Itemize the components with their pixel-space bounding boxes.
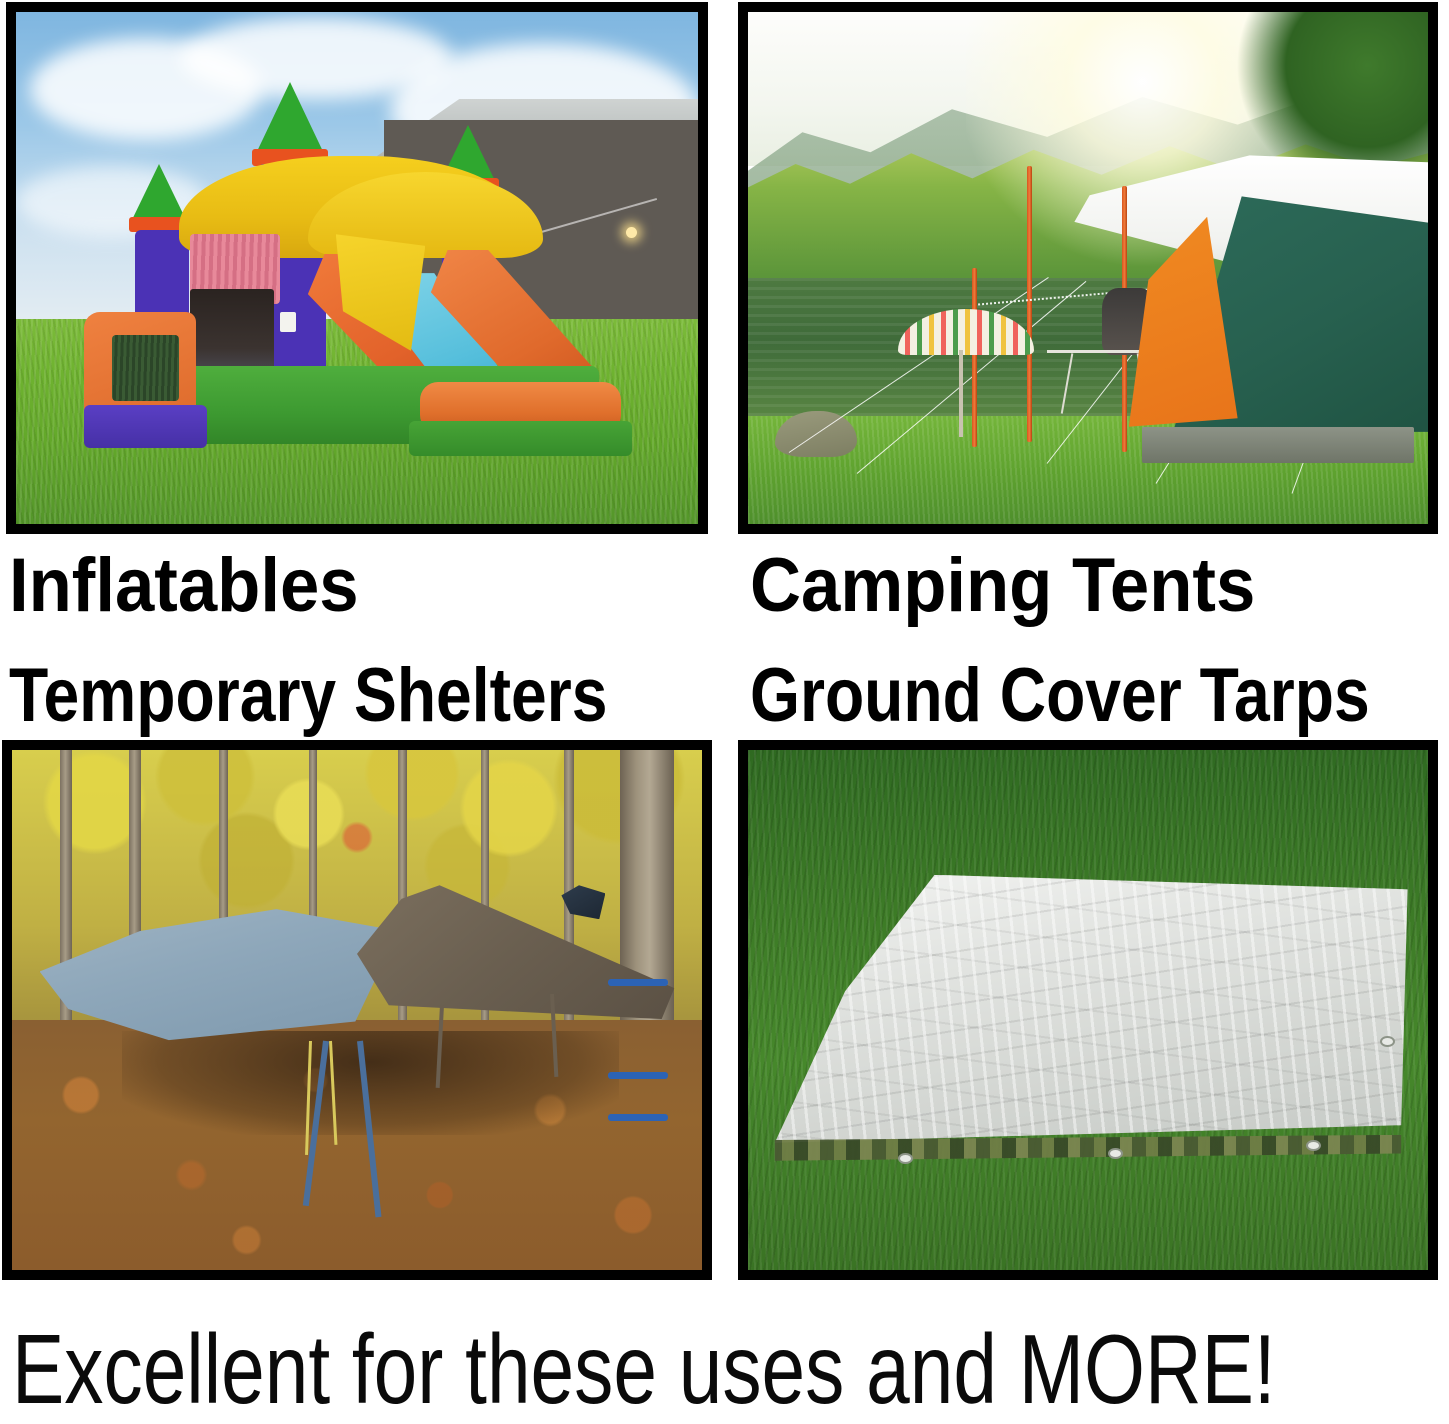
- label-camping-tents: Camping Tents: [750, 548, 1255, 624]
- entry-opening: [190, 289, 274, 375]
- bottom-caption: Excellent for these uses and MORE!: [12, 1320, 1276, 1418]
- tarp-pole: [972, 268, 977, 447]
- blue-rope-wrap: [608, 1114, 668, 1121]
- blue-rope-wrap: [608, 1072, 668, 1079]
- grommet: [1306, 1140, 1321, 1151]
- photo-panel-temporary-shelters: [2, 740, 712, 1280]
- photo-panel-camping-tents: [738, 2, 1438, 534]
- blue-rope-wrap: [608, 979, 668, 986]
- label-inflatables: Inflatables: [9, 548, 359, 624]
- landing-bumper-base: [409, 421, 633, 456]
- photo-panel-inflatables: [6, 2, 708, 534]
- label-ground-cover-tarps: Ground Cover Tarps: [750, 658, 1370, 734]
- blower-tag: [280, 312, 296, 332]
- bounce-house: [84, 79, 643, 468]
- silver-ground-tarp-photo: [748, 750, 1428, 1270]
- front-window-mesh: [112, 335, 179, 401]
- umbrella-pole: [959, 350, 963, 437]
- photo-panel-ground-cover-tarps: [738, 740, 1438, 1280]
- front-wall-purple-base: [84, 405, 207, 448]
- grommet: [898, 1153, 913, 1164]
- inflatable-bounce-house-photo: [16, 12, 698, 524]
- camping-tent-lake-photo: [748, 12, 1428, 524]
- tarp-shelter-forest-photo: [12, 750, 702, 1270]
- overhanging-tree: [1224, 12, 1428, 176]
- label-temporary-shelters: Temporary Shelters: [9, 658, 607, 734]
- tent-groundsheet: [1142, 427, 1414, 463]
